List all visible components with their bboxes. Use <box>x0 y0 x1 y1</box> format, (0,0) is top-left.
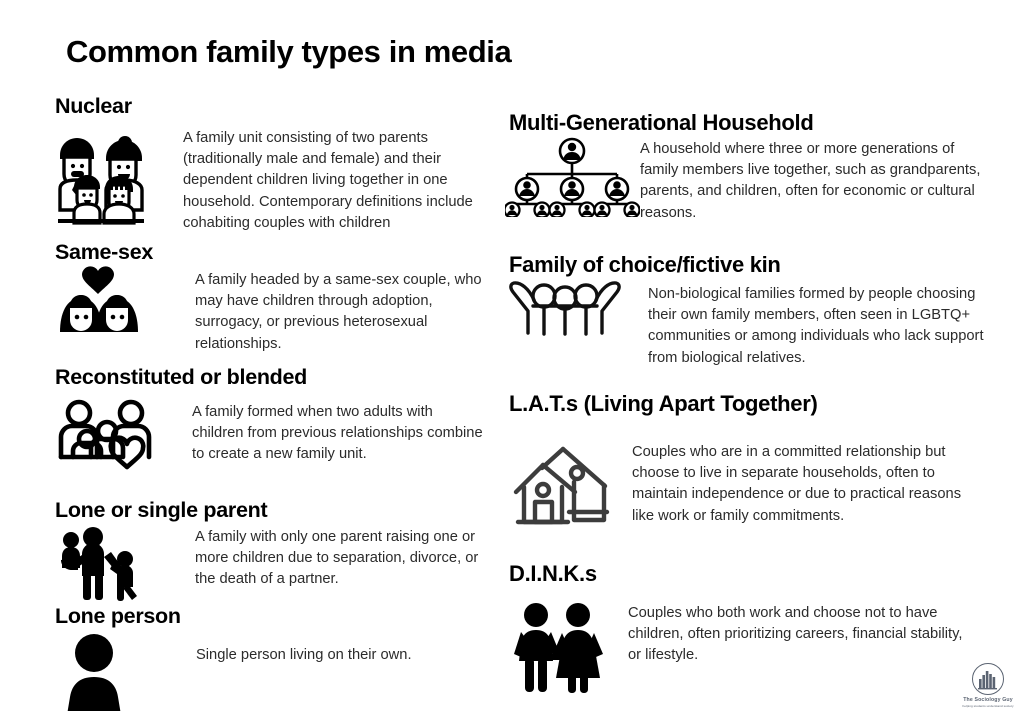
section-heading-multigenerational: Multi-Generational Household <box>509 110 814 136</box>
section-heading-dinks: D.I.N.K.s <box>509 561 597 587</box>
section-body-same-sex: A family headed by a same-sex couple, wh… <box>195 270 487 355</box>
section-heading-nuclear: Nuclear <box>55 94 132 119</box>
section-heading-same-sex: Same-sex <box>55 240 153 265</box>
section-heading-lone-person: Lone person <box>55 604 181 629</box>
single-parent-with-children-icon <box>58 527 144 603</box>
couple-no-children-icon <box>514 602 606 694</box>
nuclear-family-icon <box>52 131 150 226</box>
section-body-nuclear: A family unit consisting of two parents … <box>183 128 483 234</box>
single-person-icon <box>62 633 128 711</box>
blended-family-heart-icon <box>57 397 157 470</box>
section-heading-lone-parent: Lone or single parent <box>55 498 267 523</box>
infographic-page: Common family types in media Nuclear <box>0 0 1024 723</box>
section-body-dinks: Couples who both work and choose not to … <box>628 603 978 667</box>
section-body-family-of-choice: Non-biological families formed by people… <box>648 284 1000 369</box>
section-body-reconstituted: A family formed when two adults with chi… <box>192 402 486 466</box>
section-body-lats: Couples who are in a committed relations… <box>632 442 982 527</box>
page-title: Common family types in media <box>66 34 511 70</box>
logo-name: The Sociology Guy <box>957 697 1019 703</box>
section-body-multigenerational: A household where three or more generati… <box>640 139 996 224</box>
section-heading-reconstituted: Reconstituted or blended <box>55 365 307 390</box>
brand-logo: The Sociology Guy helping students under… <box>957 662 1019 708</box>
section-heading-family-of-choice: Family of choice/fictive kin <box>509 252 781 278</box>
section-body-lone-parent: A family with only one parent raising on… <box>195 527 485 591</box>
city-skyline-circle-logo <box>971 662 1005 696</box>
two-houses-icon <box>513 440 611 532</box>
family-tree-icon <box>505 137 640 217</box>
logo-tagline: helping students understand society <box>957 704 1019 708</box>
section-heading-lats: L.A.T.s (Living Apart Together) <box>509 391 817 417</box>
section-body-lone-person: Single person living on their own. <box>196 645 486 666</box>
three-people-arms-around-icon <box>507 280 623 336</box>
same-sex-couple-heart-icon <box>52 266 144 334</box>
